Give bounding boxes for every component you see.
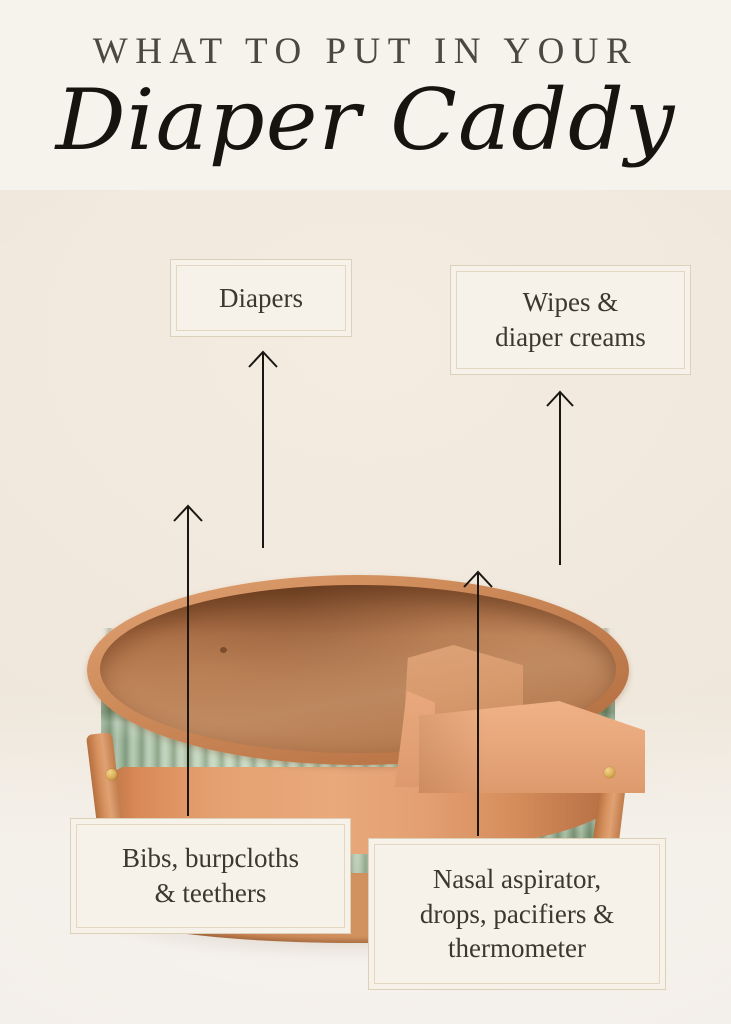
label-diapers: Diapers	[170, 259, 352, 337]
infographic-poster: WHAT TO PUT IN YOUR Diaper Caddy	[0, 0, 731, 1024]
label-diapers-text: Diapers	[213, 281, 309, 316]
label-bibs: Bibs, burpcloths & teethers	[70, 818, 351, 934]
page-title: Diaper Caddy	[0, 78, 731, 162]
label-nasal-line-1: Nasal aspirator,	[433, 864, 601, 894]
label-nasal-inner: Nasal aspirator, drops, pacifiers & ther…	[374, 844, 660, 984]
label-bibs-line-1: Bibs, burpcloths	[122, 843, 299, 873]
label-wipes-line-1: Wipes &	[523, 287, 619, 317]
label-nasal-line-2: drops, pacifiers &	[420, 899, 614, 929]
label-bibs-line-2: & teethers	[155, 878, 267, 908]
label-nasal: Nasal aspirator, drops, pacifiers & ther…	[368, 838, 666, 990]
label-bibs-inner: Bibs, burpcloths & teethers	[76, 824, 345, 928]
header-band: WHAT TO PUT IN YOUR Diaper Caddy	[0, 0, 731, 190]
label-diapers-line-1: Diapers	[219, 283, 303, 313]
label-diapers-inner: Diapers	[176, 265, 346, 331]
label-wipes-line-2: diaper creams	[495, 322, 646, 352]
label-nasal-text: Nasal aspirator, drops, pacifiers & ther…	[414, 862, 620, 966]
label-wipes-inner: Wipes & diaper creams	[456, 271, 685, 369]
page-eyebrow: WHAT TO PUT IN YOUR	[0, 30, 731, 73]
label-nasal-line-3: thermometer	[448, 933, 586, 963]
label-wipes: Wipes & diaper creams	[450, 265, 691, 375]
label-bibs-text: Bibs, burpcloths & teethers	[116, 841, 305, 910]
label-wipes-text: Wipes & diaper creams	[489, 285, 652, 354]
